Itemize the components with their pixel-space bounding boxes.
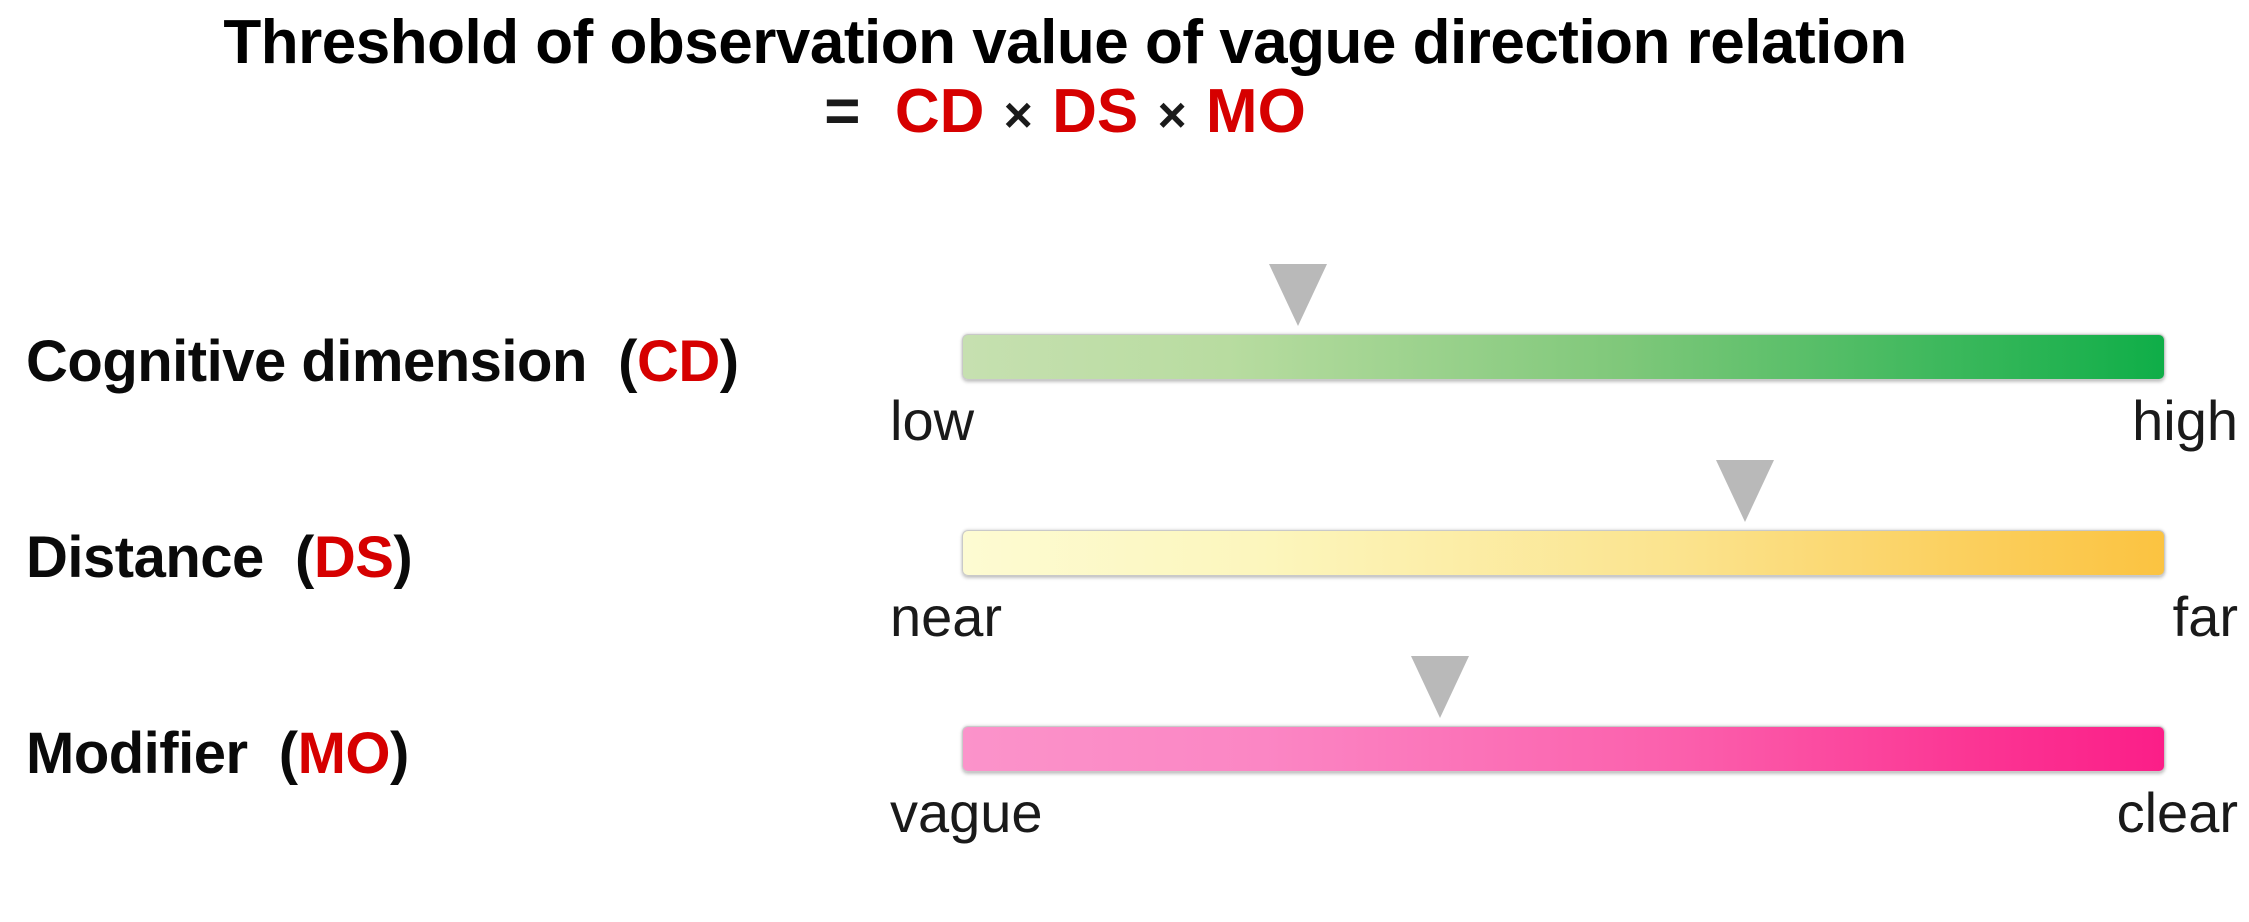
- scale-bar-wrap-distance: [962, 530, 2165, 576]
- title-line-1: Threshold of observation value of vague …: [0, 10, 2130, 77]
- scale-bar-wrap-modifier: [962, 726, 2165, 772]
- paren-close-ds: ): [393, 525, 412, 590]
- scale-label-near: near: [890, 584, 1002, 649]
- scale-endpoints-distance: near far: [890, 584, 2238, 649]
- paren-open-cd: (: [618, 329, 637, 394]
- paren-close-cd: ): [720, 329, 739, 394]
- row-name-cognitive-dimension: Cognitive dimension: [26, 329, 587, 394]
- paren-open-ds: (: [295, 525, 314, 590]
- gradient-bar-distance[interactable]: [962, 530, 2165, 576]
- row-cognitive-dimension: Cognitive dimension (CD) low high: [0, 250, 2249, 450]
- paren-open-mo: (: [279, 721, 298, 786]
- marker-triangle-modifier[interactable]: [1411, 656, 1469, 718]
- scale-label-clear: clear: [2117, 780, 2238, 845]
- multiply-sign-2: ×: [1155, 87, 1188, 143]
- row-modifier: Modifier (MO) vague clear: [0, 642, 2249, 842]
- gradient-bar-modifier[interactable]: [962, 726, 2165, 772]
- row-abbr-ds: DS: [314, 525, 394, 590]
- diagram-canvas: Threshold of observation value of vague …: [0, 0, 2249, 922]
- gradient-bar-cognitive-dimension[interactable]: [962, 334, 2165, 380]
- scale-endpoints-modifier: vague clear: [890, 780, 2238, 845]
- row-label-distance: Distance (DS): [26, 524, 412, 591]
- formula-factor-ds: DS: [1052, 77, 1138, 146]
- scale-label-far: far: [2173, 584, 2238, 649]
- scale-label-low: low: [890, 388, 974, 453]
- row-abbr-cd: CD: [637, 329, 720, 394]
- row-distance: Distance (DS) near far: [0, 446, 2249, 646]
- row-name-modifier: Modifier: [26, 721, 248, 786]
- formula-factor-cd: CD: [895, 77, 985, 146]
- formula-factor-mo: MO: [1206, 77, 1306, 146]
- marker-triangle-cognitive-dimension[interactable]: [1269, 264, 1327, 326]
- title-formula: = CD × DS × MO: [0, 79, 2130, 146]
- row-label-modifier: Modifier (MO): [26, 720, 409, 787]
- equals-sign: =: [824, 77, 860, 146]
- scale-endpoints-cognitive-dimension: low high: [890, 388, 2238, 453]
- scale-label-high: high: [2132, 388, 2238, 453]
- row-label-cognitive-dimension: Cognitive dimension (CD): [26, 328, 739, 395]
- paren-close-mo: ): [390, 721, 409, 786]
- scale-bar-wrap-cognitive-dimension: [962, 334, 2165, 380]
- row-abbr-mo: MO: [298, 721, 390, 786]
- page-title: Threshold of observation value of vague …: [0, 10, 2130, 146]
- row-name-distance: Distance: [26, 525, 264, 590]
- scale-label-vague: vague: [890, 780, 1043, 845]
- multiply-sign-1: ×: [1002, 87, 1035, 143]
- marker-triangle-distance[interactable]: [1716, 460, 1774, 522]
